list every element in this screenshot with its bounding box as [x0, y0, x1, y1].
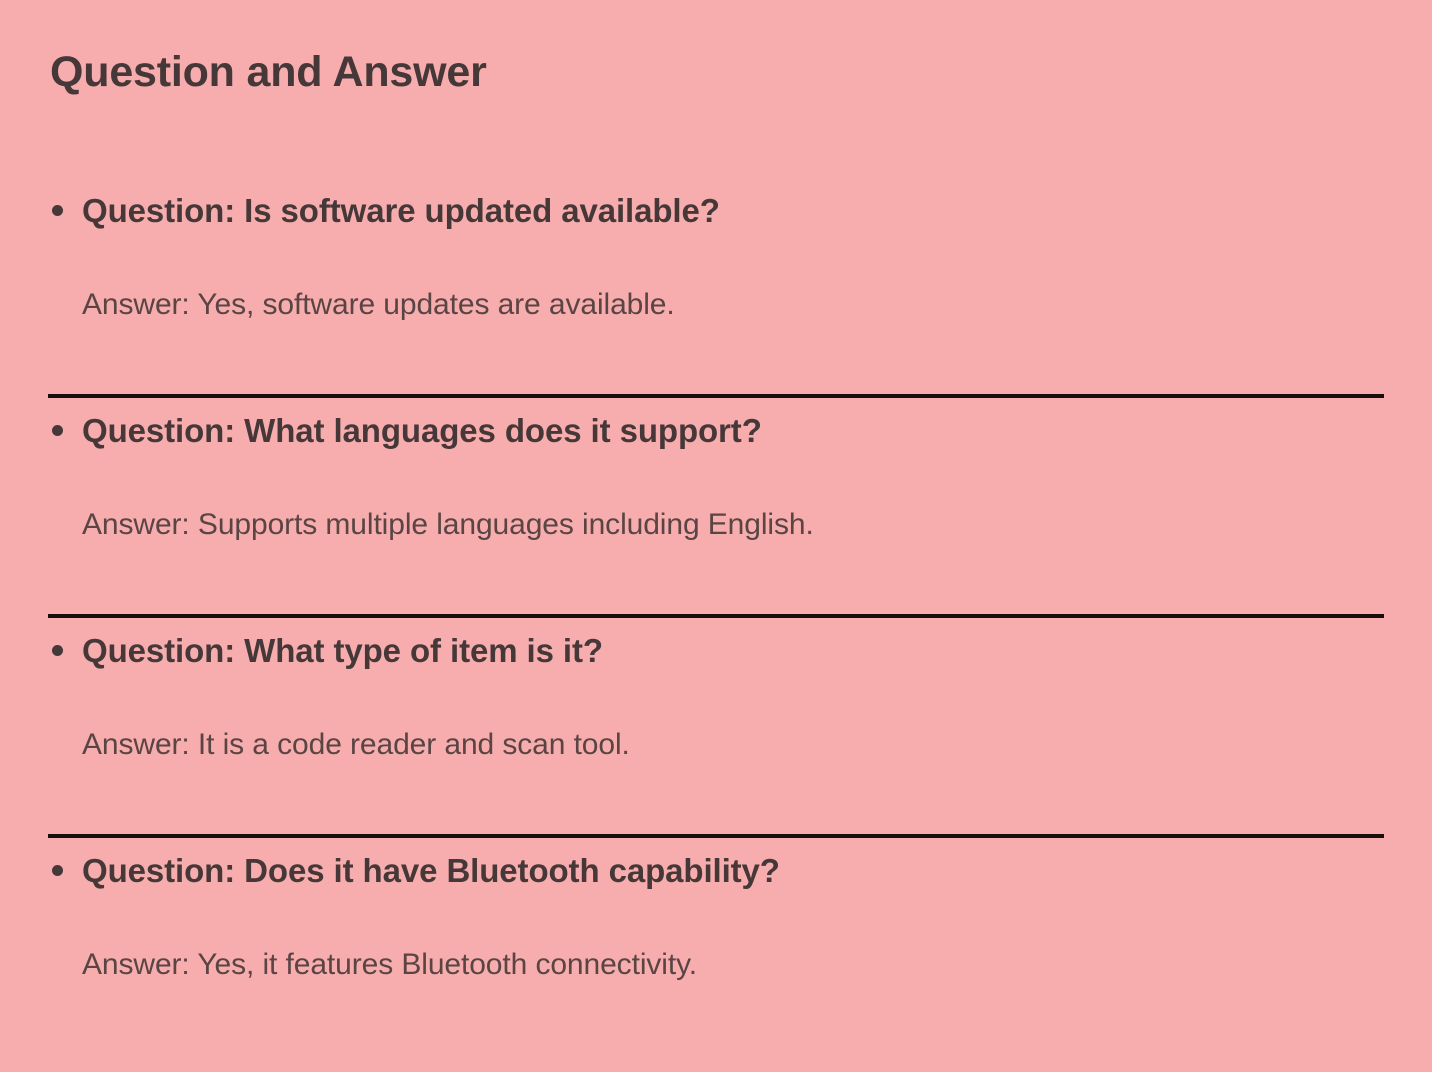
qa-item: Question: Does it have Bluetooth capabil… — [48, 838, 1384, 1058]
qa-item: Question: What type of item is it? Answe… — [48, 618, 1384, 838]
qa-answer-text: Answer: Yes, software updates are availa… — [48, 233, 1384, 324]
page-title: Question and Answer — [50, 48, 487, 97]
qa-question-text: Question: What languages does it support… — [82, 410, 1384, 453]
qa-question-row: Question: What type of item is it? — [48, 618, 1384, 673]
qa-question-row: Question: What languages does it support… — [48, 398, 1384, 453]
qa-answer-text: Answer: Yes, it features Bluetooth conne… — [48, 893, 1384, 984]
bullet-dot-icon — [52, 205, 63, 216]
qa-page: Question and Answer Question: Is softwar… — [0, 0, 1432, 1072]
bullet-dot-icon — [52, 425, 63, 436]
qa-question-text: Question: Does it have Bluetooth capabil… — [82, 850, 1384, 893]
qa-answer-text: Answer: It is a code reader and scan too… — [48, 673, 1384, 764]
qa-question-text: Question: Is software updated available? — [82, 190, 1384, 233]
qa-item: Question: Is software updated available?… — [48, 178, 1384, 398]
qa-answer-text: Answer: Supports multiple languages incl… — [48, 453, 1384, 544]
qa-list: Question: Is software updated available?… — [48, 178, 1384, 1058]
bullet-dot-icon — [52, 865, 63, 876]
qa-question-row: Question: Is software updated available? — [48, 178, 1384, 233]
qa-question-text: Question: What type of item is it? — [82, 630, 1384, 673]
qa-question-row: Question: Does it have Bluetooth capabil… — [48, 838, 1384, 893]
qa-item: Question: What languages does it support… — [48, 398, 1384, 618]
bullet-dot-icon — [52, 645, 63, 656]
